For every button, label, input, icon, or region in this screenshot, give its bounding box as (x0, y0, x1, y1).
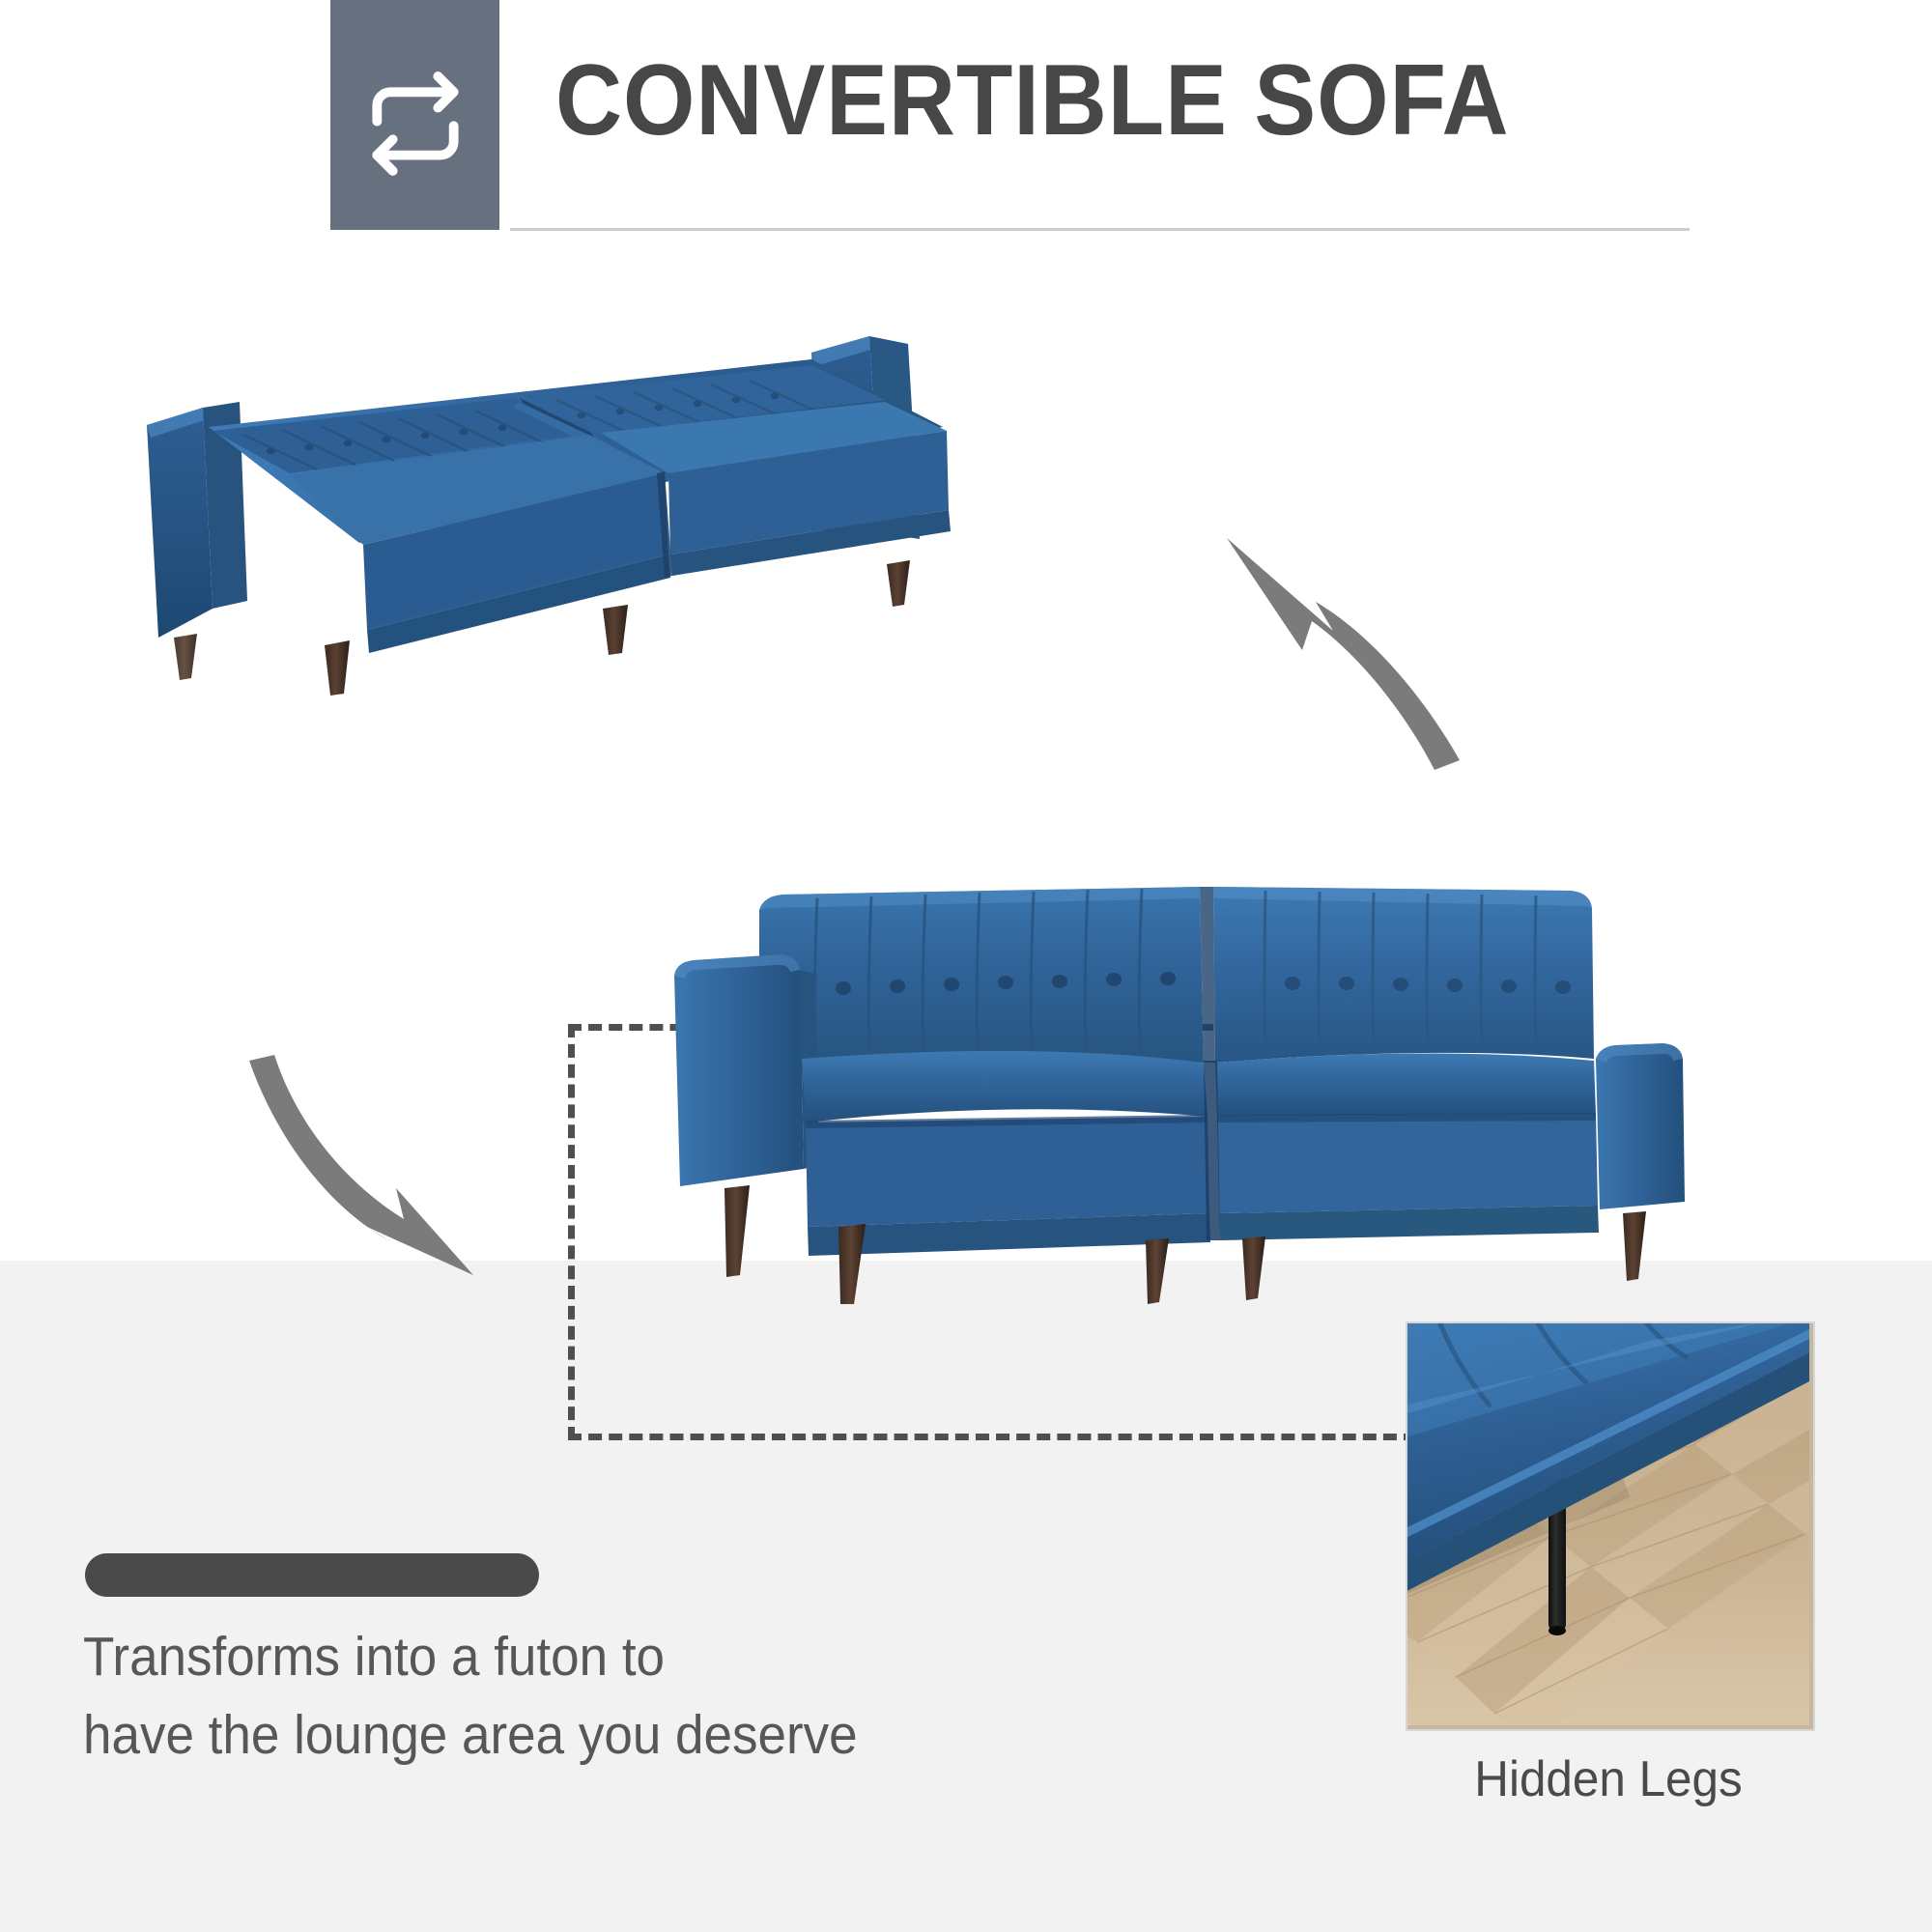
sofa-upright-view (667, 869, 1690, 1304)
hidden-legs-photo (1406, 1321, 1815, 1731)
header: CONVERTIBLE SOFA (0, 0, 1932, 241)
futon-flat-view (135, 319, 1005, 724)
feature-accent-bar (85, 1553, 539, 1597)
header-divider (510, 228, 1690, 231)
hidden-legs-label: Hidden Legs (1416, 1750, 1802, 1808)
header-icon-box (330, 0, 499, 230)
infographic-page: CONVERTIBLE SOFA (0, 0, 1932, 1932)
arrow-to-futon (1188, 507, 1507, 778)
page-title: CONVERTIBLE SOFA (555, 50, 1510, 151)
feature-caption-line-2: have the lounge area you deserve (83, 1696, 873, 1775)
feature-caption: Transforms into a futon to have the loun… (83, 1618, 873, 1775)
repeat-loop-icon (361, 70, 469, 178)
arrow-to-sofa (220, 1034, 529, 1294)
feature-caption-line-1: Transforms into a futon to (83, 1618, 873, 1696)
